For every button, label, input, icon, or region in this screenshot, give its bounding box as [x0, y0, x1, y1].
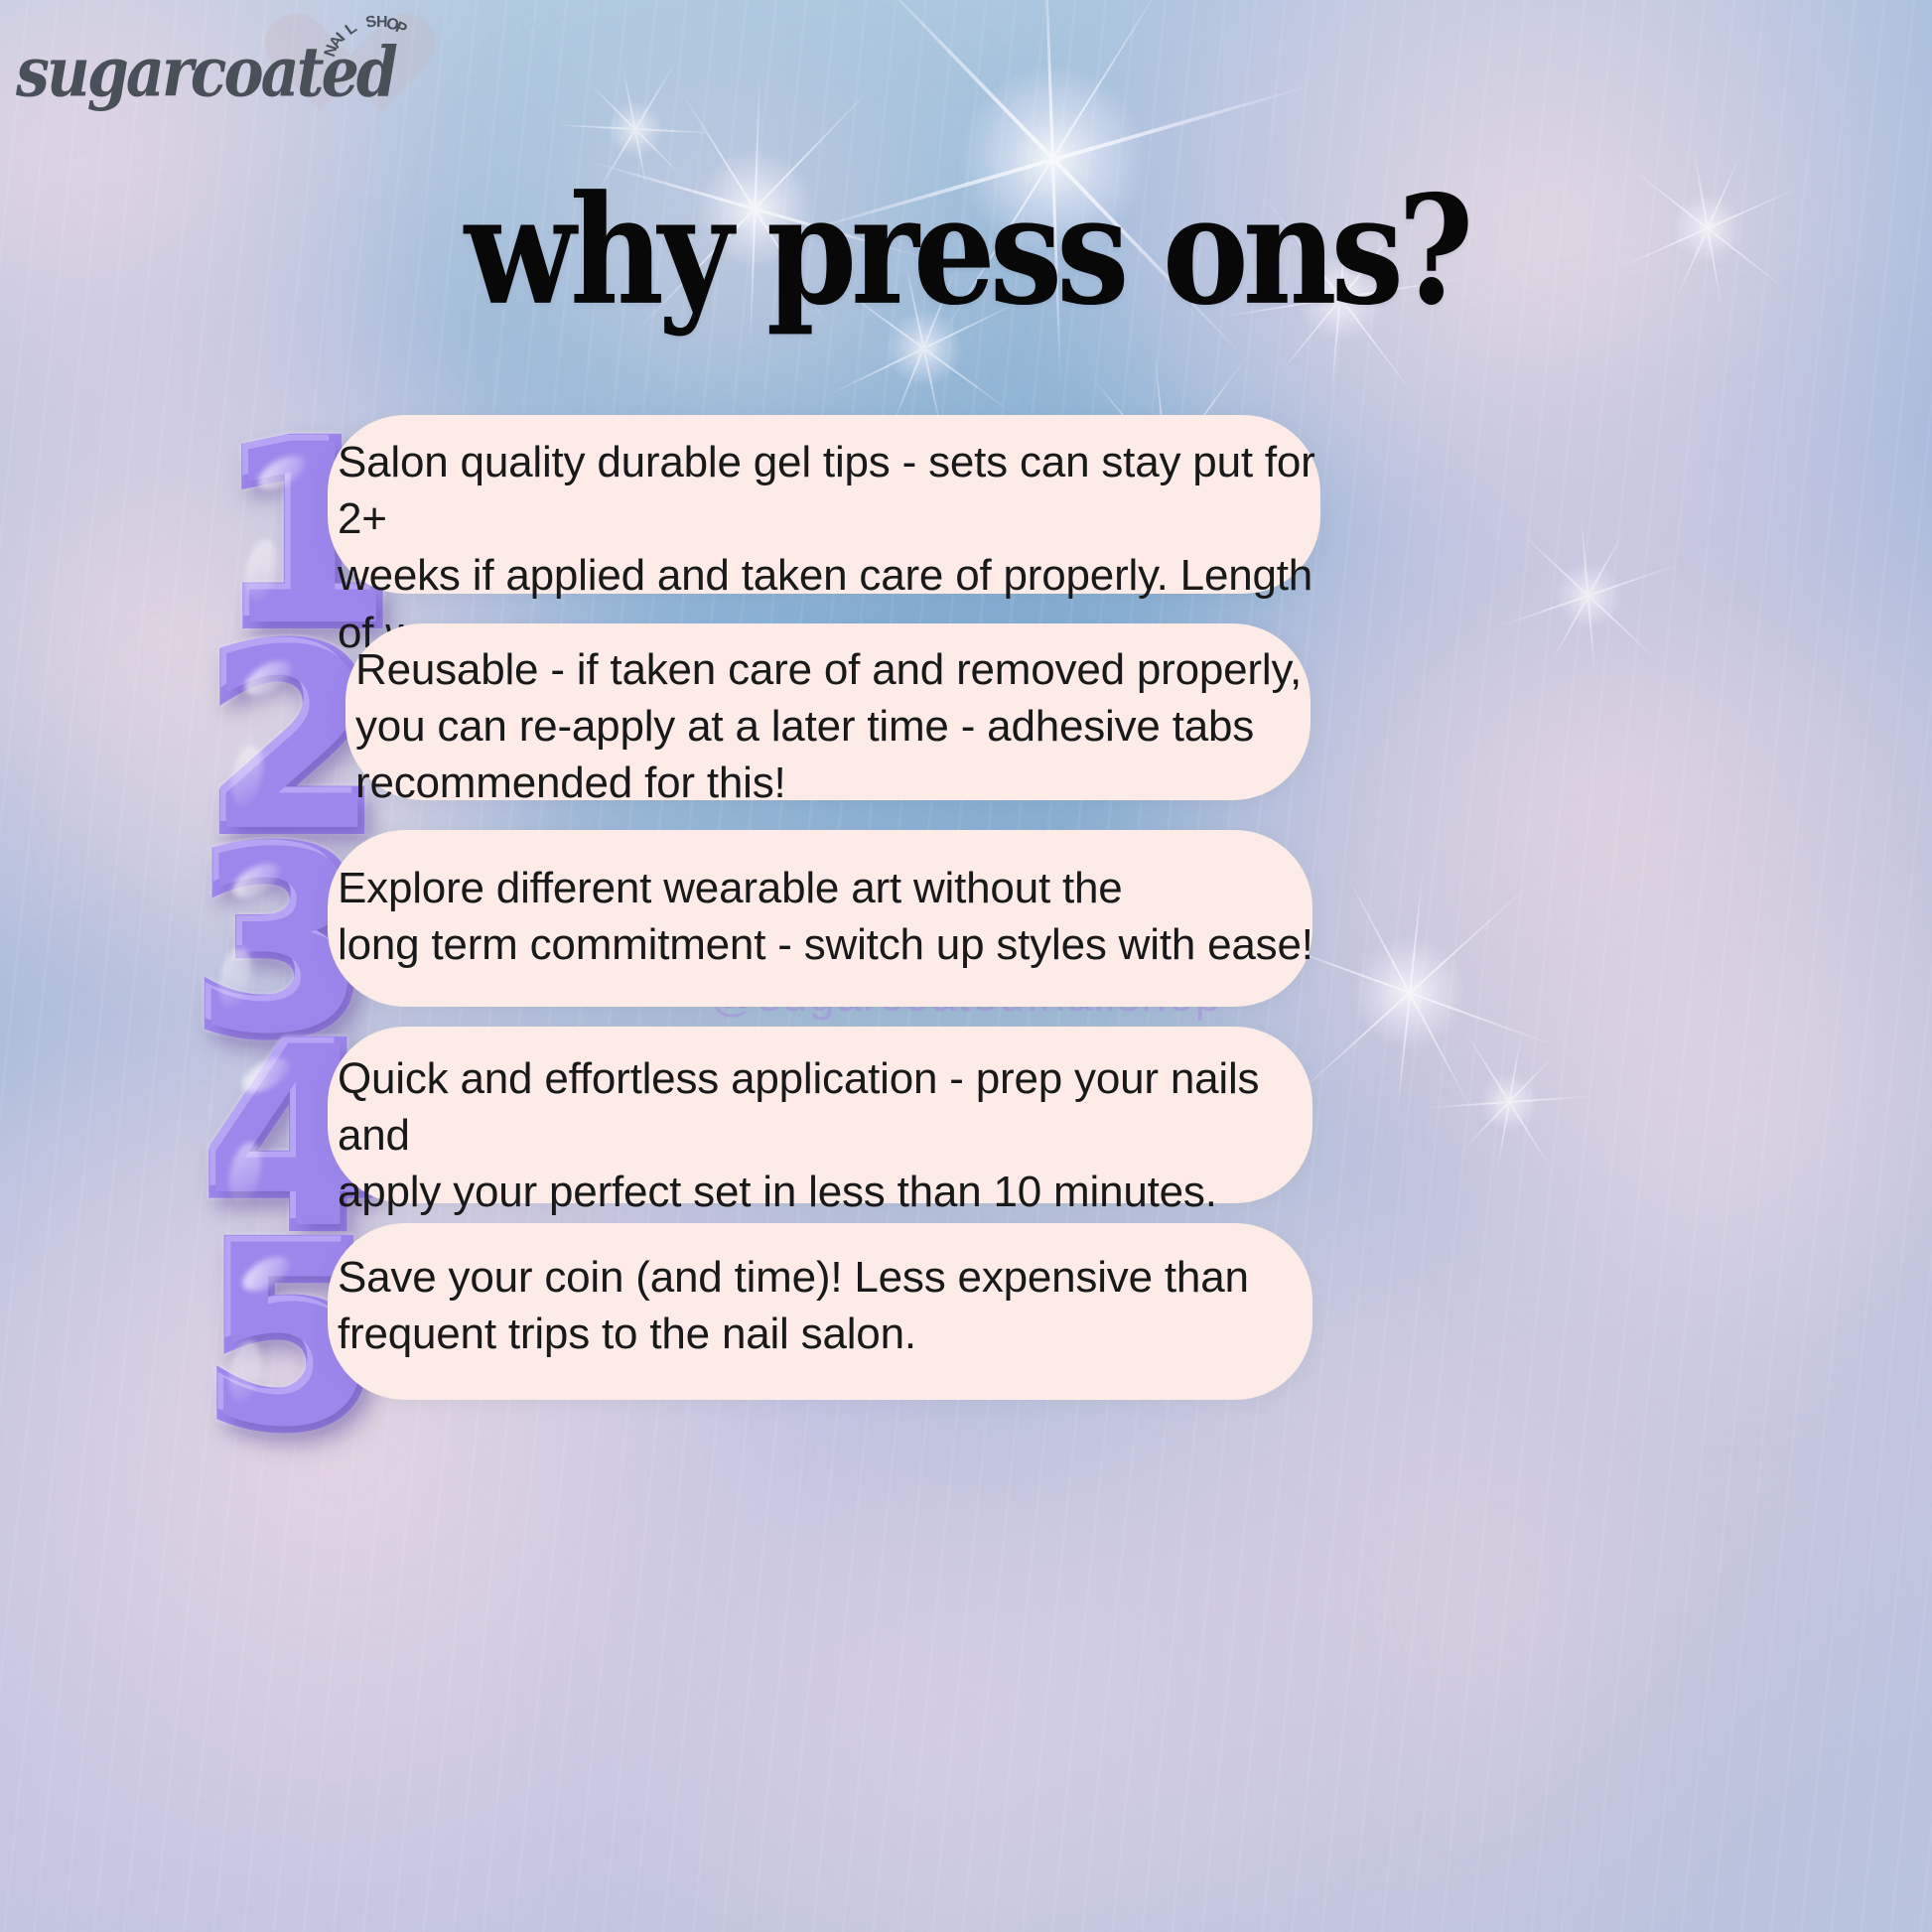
poster-canvas: sugarcoated NAIL SHOP why press ons? @su… — [0, 0, 1932, 1932]
benefit-text: Explore different wearable art without t… — [338, 860, 1342, 973]
benefits-list: 1Salon quality durable gel tips - sets c… — [0, 0, 1932, 1932]
benefit-text: Save your coin (and time)! Less expensiv… — [338, 1249, 1342, 1362]
benefit-text: Quick and effortless application - prep … — [338, 1050, 1342, 1221]
benefit-text: Reusable - if taken care of and removed … — [355, 641, 1340, 812]
